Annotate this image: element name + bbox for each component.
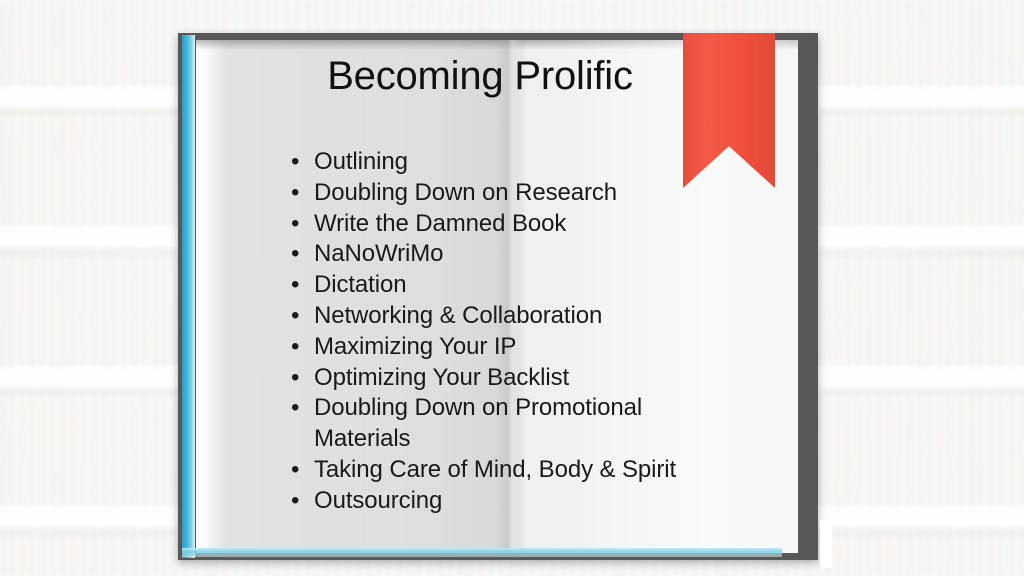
bullet-marker-icon: • (291, 239, 299, 270)
presentation-slide: Becoming Prolific •Outlining•Doubling Do… (0, 0, 1024, 576)
bullet-item: •Optimizing Your Backlist (288, 363, 708, 394)
bullet-marker-icon: • (291, 147, 299, 178)
bullet-item-label: Maximizing Your IP (314, 333, 516, 360)
bullet-marker-icon: • (291, 332, 299, 363)
bullet-marker-icon: • (291, 486, 299, 517)
bullet-item: •Outlining (288, 147, 708, 178)
bullet-item: •Outsourcing (288, 486, 708, 517)
bullet-marker-icon: • (291, 363, 299, 394)
bullet-item-label: Outlining (314, 148, 408, 175)
bullet-item: •NaNoWriMo (288, 239, 708, 270)
bullet-item-label: Doubling Down on Research (314, 179, 617, 206)
bullet-item: •Taking Care of Mind, Body & Spirit (288, 455, 708, 486)
slide-bullet-list: •Outlining•Doubling Down on Research•Wri… (288, 147, 708, 517)
bullet-item: •Maximizing Your IP (288, 332, 708, 363)
bullet-item-label: NaNoWriMo (314, 240, 443, 267)
bullet-item-label: Taking Care of Mind, Body & Spirit (314, 456, 676, 483)
bullet-marker-icon: • (291, 393, 299, 424)
bullet-item: •Doubling Down on Research (288, 178, 708, 209)
bullet-item: •Doubling Down on Promotional Materials (288, 393, 708, 455)
bullet-item-label: Doubling Down on Promotional Materials (314, 394, 642, 452)
bullet-item: •Networking & Collaboration (288, 301, 708, 332)
bullet-marker-icon: • (291, 178, 299, 209)
bullet-marker-icon: • (291, 301, 299, 332)
book-bottom-cyan-edge (182, 548, 782, 557)
book-spine-cyan-strip (182, 35, 195, 558)
bullet-marker-icon: • (291, 270, 299, 301)
cover-edge-highlight (820, 520, 832, 568)
bullet-item-label: Write the Damned Book (314, 210, 566, 237)
slide-title: Becoming Prolific (200, 54, 760, 99)
bullet-item-label: Outsourcing (314, 487, 442, 514)
bullet-marker-icon: • (291, 455, 299, 486)
bullet-item-label: Networking & Collaboration (314, 302, 602, 329)
bullet-marker-icon: • (291, 209, 299, 240)
bullet-item: •Dictation (288, 270, 708, 301)
bullet-item: •Write the Damned Book (288, 209, 708, 240)
bullet-item-label: Optimizing Your Backlist (314, 364, 569, 391)
bullet-item-label: Dictation (314, 271, 406, 298)
